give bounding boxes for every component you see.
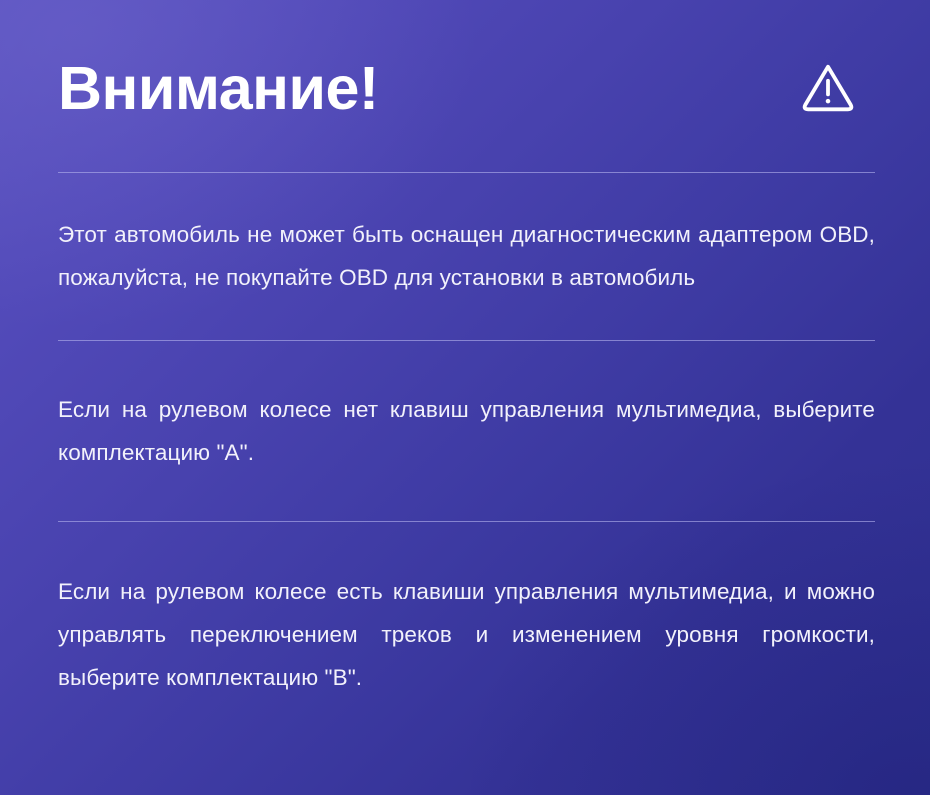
- warning-notice-page: Внимание! Этот автомобиль не может быть …: [0, 0, 930, 795]
- section-text: Если на рулевом колесе нет клавиш управл…: [58, 388, 875, 474]
- section-obd-adapter-warning: Этот автомобиль не может быть оснащен ди…: [55, 173, 875, 340]
- notice-header: Внимание!: [55, 0, 875, 172]
- section-trim-a-condition: Если на рулевом колесе нет клавиш управл…: [55, 341, 875, 521]
- section-text: Этот автомобиль не может быть оснащен ди…: [58, 213, 875, 299]
- warning-triangle-icon: [799, 59, 857, 117]
- notice-content: Внимание! Этот автомобиль не может быть …: [0, 0, 930, 747]
- section-text: Если на рулевом колесе есть клавиши упра…: [58, 570, 875, 699]
- section-trim-b-condition: Если на рулевом колесе есть клавиши упра…: [55, 522, 875, 747]
- page-title: Внимание!: [55, 58, 379, 119]
